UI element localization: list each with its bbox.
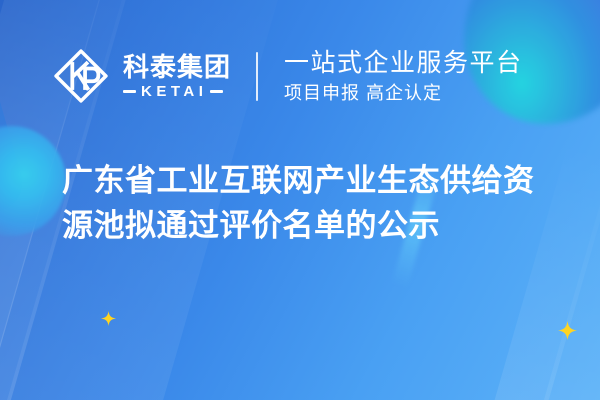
wordmark-dash-left-icon xyxy=(123,90,136,93)
brand-wordmark: 科泰集团 KETAI xyxy=(123,53,231,100)
ketai-diamond-kp-logo-icon xyxy=(52,47,110,105)
brand-name-en-row: KETAI xyxy=(123,84,231,100)
tagline-main: 一站式企业服务平台 xyxy=(284,48,523,78)
brand-name-en: KETAI xyxy=(141,84,207,100)
promo-banner: 科泰集团 KETAI 一站式企业服务平台 项目申报 高企认定 广东省工业互联网产… xyxy=(0,0,600,400)
sparkle-left-icon xyxy=(101,311,116,326)
sparkle-right-icon xyxy=(558,321,577,340)
banner-headline: 广东省工业互联网产业生态供给资源池拟通过评价名单的公示 xyxy=(62,158,562,248)
brand-name-cn: 科泰集团 xyxy=(123,53,231,81)
left-cyan-circle xyxy=(0,126,66,236)
banner-header: 科泰集团 KETAI 一站式企业服务平台 项目申报 高企认定 xyxy=(0,40,600,112)
header-divider xyxy=(256,52,258,101)
tagline-sub: 项目申报 高企认定 xyxy=(284,81,523,105)
tagline-block: 一站式企业服务平台 项目申报 高企认定 xyxy=(284,48,523,105)
brand-logo[interactable]: 科泰集团 KETAI xyxy=(52,47,231,105)
wordmark-dash-right-icon xyxy=(210,90,223,93)
